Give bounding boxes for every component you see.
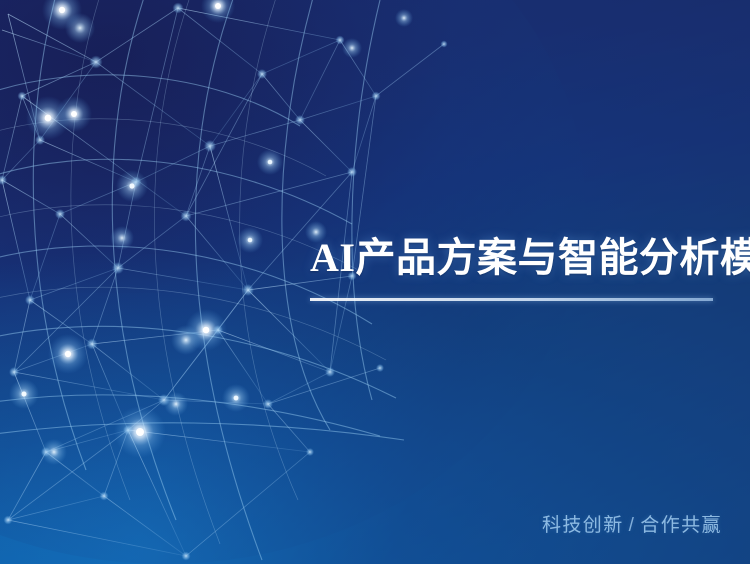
title-block: AI产品方案与智能分析模式 [310,231,714,301]
tagline: 科技创新/合作共赢 [542,514,722,538]
tagline-separator: / [624,515,641,536]
page-title: AI产品方案与智能分析模式 [310,231,714,285]
title-slide: AI产品方案与智能分析模式 科技创新/合作共赢 [0,0,750,564]
tagline-right-text: 合作共赢 [640,515,722,536]
tagline-left-text: 科技创新 [542,515,624,536]
title-underline [310,298,713,301]
